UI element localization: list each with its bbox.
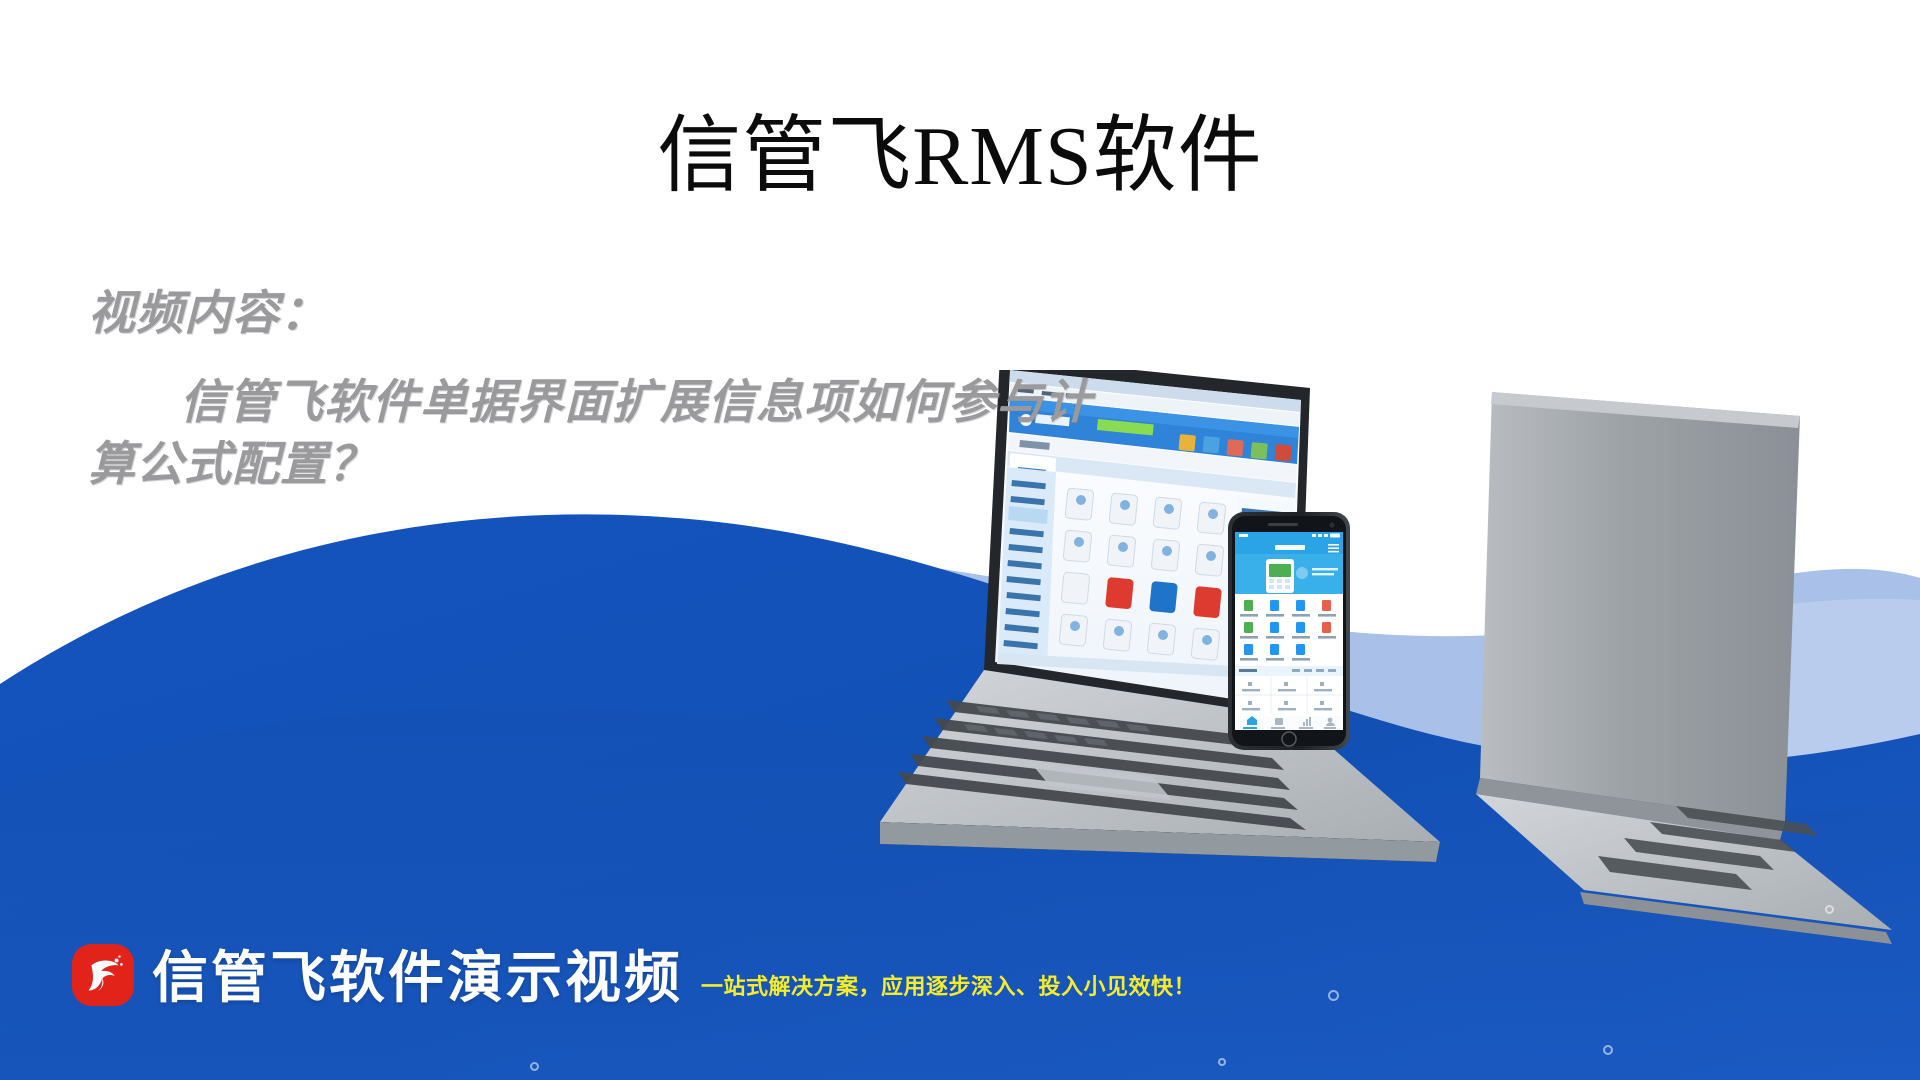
laptop-closed-back	[1476, 392, 1892, 944]
decorative-dot	[1825, 905, 1834, 914]
decorative-dot	[1603, 1045, 1613, 1055]
smartphone-mobile-app	[1228, 512, 1350, 750]
video-content-block: 视频内容： 信管飞软件单据界面扩展信息项如何参与计算公式配置？	[88, 282, 1098, 496]
footer-brand-bar: 信管飞软件演示视频 一站式解决方案，应用逐步深入、投入小见效快！	[72, 944, 1196, 1006]
page-title: 信管飞RMS软件	[0, 88, 1920, 209]
footer-tagline: 一站式解决方案，应用逐步深入、投入小见效快！	[701, 969, 1196, 1006]
video-content-label: 视频内容：	[88, 282, 1098, 345]
decorative-dot	[1328, 990, 1339, 1001]
video-content-paragraph: 信管飞软件单据界面扩展信息项如何参与计算公式配置？	[88, 371, 1098, 496]
decorative-dot	[1218, 1058, 1226, 1066]
decorative-dot	[530, 1062, 539, 1071]
xinguanfei-bird-logo-icon	[72, 944, 134, 1006]
footer-title: 信管飞软件演示视频	[152, 950, 683, 1006]
